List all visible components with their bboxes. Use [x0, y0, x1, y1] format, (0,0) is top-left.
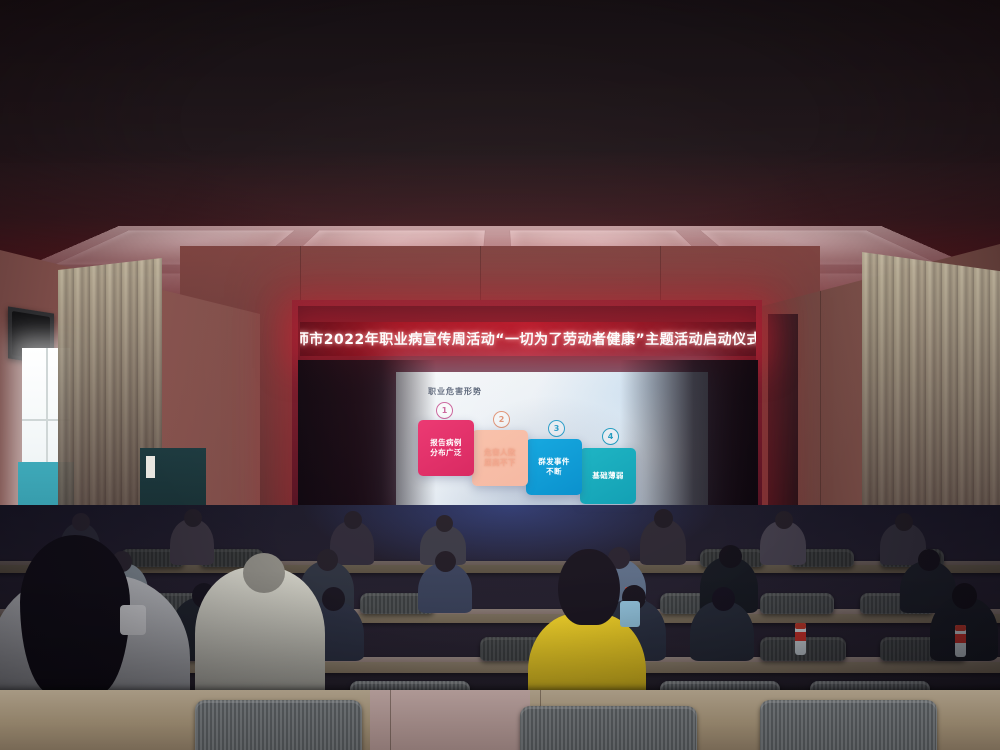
slide-box-4-line1: 基础薄弱 — [592, 471, 624, 481]
slide-box-3-line2: 不断 — [538, 467, 570, 477]
slide-box-3-line1: 群发事件 — [538, 457, 570, 467]
bottle-cap — [955, 625, 966, 631]
desk-pink-panel — [370, 690, 530, 750]
face-mask-strap — [620, 601, 640, 627]
slide-step-number-1: 1 — [436, 402, 453, 419]
audience-head — [895, 513, 913, 531]
led-banner: 师市2022年职业病宣传周活动“一切为了劳动者健康”主题活动启动仪式 — [300, 322, 756, 356]
desk-seam — [390, 690, 391, 750]
audience-head — [436, 515, 453, 532]
projection-screen: 职业危害形势 1 2 3 4 报告病例 分布广泛 危害人数 居高不下 群发事件 … — [396, 372, 708, 514]
slide-box-2-line2: 居高不下 — [484, 458, 516, 468]
slide-box-1-line1: 报告病例 — [430, 438, 462, 448]
bottle-label — [795, 632, 806, 641]
downlight-icon — [180, 241, 202, 245]
door-sign — [146, 456, 155, 478]
audience-head — [712, 587, 735, 611]
audience-head — [317, 549, 338, 571]
audience-head — [719, 545, 742, 568]
downlight-icon — [386, 241, 404, 245]
foreground-chair-back — [520, 706, 697, 750]
slide-box-3: 群发事件 不断 — [526, 439, 582, 495]
slide-box-1: 报告病例 分布广泛 — [418, 420, 474, 476]
water-bottle — [795, 623, 806, 655]
audience-head — [184, 509, 202, 527]
downlight-icon — [590, 241, 608, 245]
slide-box-1-line2: 分布广泛 — [430, 448, 462, 458]
audience-head-dark-hair — [558, 549, 620, 625]
slide-box-4: 基础薄弱 — [580, 448, 636, 504]
audience-head-grey-hair — [243, 553, 285, 593]
foreground-chair-back — [760, 700, 937, 750]
audience-head-long-hair — [20, 535, 130, 695]
audience-head — [72, 513, 90, 531]
chair-back — [760, 593, 834, 614]
bottle-label — [955, 634, 966, 643]
audience-head — [435, 551, 456, 572]
banner-title: 师市2022年职业病宣传周活动“一切为了劳动者健康”主题活动启动仪式 — [300, 329, 756, 349]
foreground-chair-back — [195, 700, 362, 750]
slide-step-number-4: 4 — [602, 428, 619, 445]
water-bottle — [955, 625, 966, 657]
downlight-icon — [792, 241, 814, 245]
slide-box-2-line1: 危害人数 — [484, 448, 516, 458]
audience-head — [775, 511, 793, 529]
audience-head — [654, 509, 673, 528]
slide-step-number-3: 3 — [548, 420, 565, 437]
conference-hall-photo: 师市2022年职业病宣传周活动“一切为了劳动者健康”主题活动启动仪式 职业危害形… — [0, 0, 1000, 750]
audience-head — [918, 549, 940, 571]
audience-head — [322, 587, 345, 611]
audience-head — [344, 511, 362, 529]
slide-box-2: 危害人数 居高不下 — [472, 430, 528, 486]
face-mask — [120, 605, 146, 635]
slide-title: 职业危害形势 — [428, 386, 482, 397]
bottle-cap — [795, 623, 806, 629]
audience-head — [952, 583, 977, 609]
slide-step-number-2: 2 — [493, 411, 510, 428]
